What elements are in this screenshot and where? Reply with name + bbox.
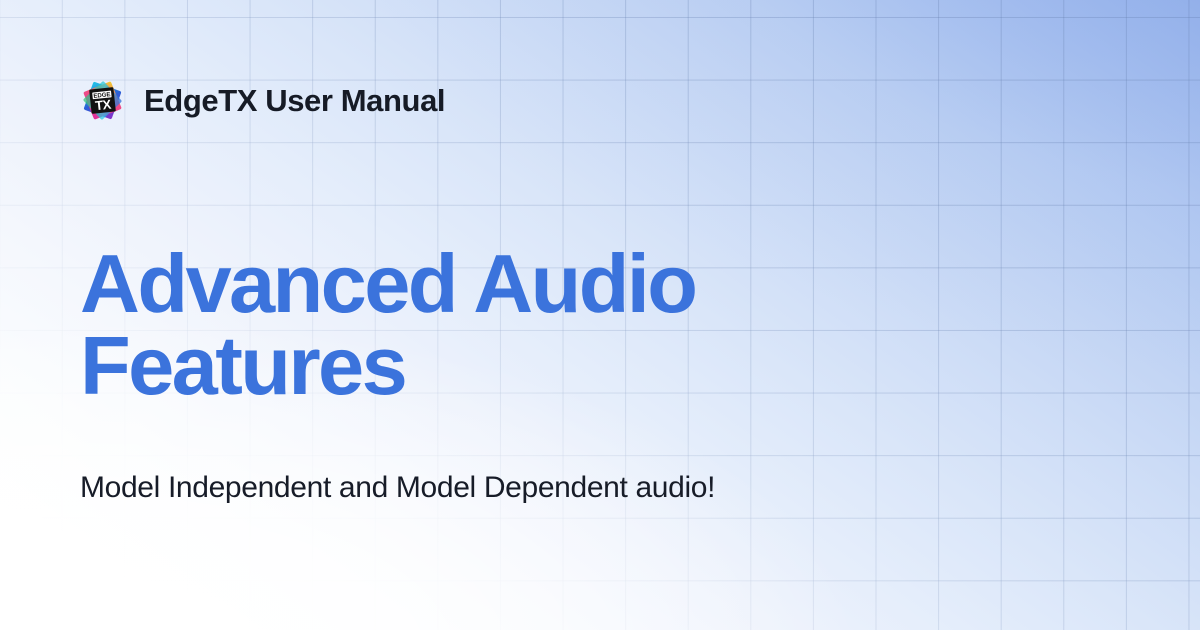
page-subtitle: Model Independent and Model Dependent au…	[80, 468, 820, 508]
manual-title: EdgeTX User Manual	[144, 85, 445, 116]
og-card: EDGE TX EdgeTX User Manual Advanced Audi…	[0, 0, 1200, 630]
card-content: EDGE TX EdgeTX User Manual Advanced Audi…	[0, 0, 1200, 630]
edgetx-logo-icon: EDGE TX	[80, 78, 125, 123]
logo-tx-text: TX	[94, 97, 112, 114]
brand-row: EDGE TX EdgeTX User Manual	[80, 78, 445, 123]
page-title: Advanced Audio Features	[80, 243, 940, 407]
